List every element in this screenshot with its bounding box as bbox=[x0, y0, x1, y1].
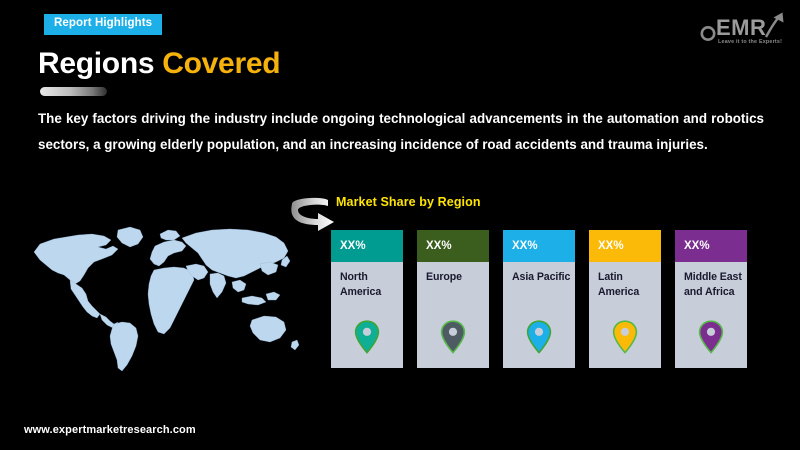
region-card-label: Europe bbox=[417, 262, 489, 285]
summary-paragraph: The key factors driving the industry inc… bbox=[38, 106, 764, 157]
region-card-asia-pacific[interactable]: XX% Asia Pacific bbox=[503, 230, 575, 368]
page-title-part2: Covered bbox=[162, 47, 280, 80]
region-card-label: Asia Pacific bbox=[503, 262, 575, 285]
region-card-pin-icon bbox=[331, 320, 403, 368]
logo-arrow-icon bbox=[766, 13, 784, 38]
region-card-pin-icon bbox=[589, 320, 661, 368]
region-card-label: Latin America bbox=[589, 262, 661, 300]
logo-circle-icon bbox=[702, 27, 714, 39]
region-cards: XX% North America XX% Europe XX% Asia Pa… bbox=[331, 230, 786, 368]
page-title: Regions Covered bbox=[38, 48, 280, 80]
page-title-part1: Regions bbox=[38, 47, 162, 80]
region-card-pin-icon bbox=[675, 320, 747, 368]
region-card-percent: XX% bbox=[417, 230, 489, 262]
region-card-label: Middle East and Africa bbox=[675, 262, 747, 300]
market-share-callout: Market Share by Region bbox=[336, 195, 481, 209]
map-landmasses bbox=[34, 227, 299, 371]
badge-label: Report Highlights bbox=[54, 17, 152, 29]
report-highlights-badge: Report Highlights bbox=[44, 14, 162, 35]
region-card-percent: XX% bbox=[331, 230, 403, 262]
region-card-europe[interactable]: XX% Europe bbox=[417, 230, 489, 368]
region-card-pin-icon bbox=[503, 320, 575, 368]
svg-text:Leave it to the Experts!: Leave it to the Experts! bbox=[718, 39, 782, 45]
region-card-north-america[interactable]: XX% North America bbox=[331, 230, 403, 368]
region-card-pin-icon bbox=[417, 320, 489, 368]
footer-url[interactable]: www.expertmarketresearch.com bbox=[24, 424, 196, 436]
world-map bbox=[14, 218, 314, 378]
region-card-percent: XX% bbox=[589, 230, 661, 262]
world-map-svg bbox=[14, 218, 314, 378]
slide-canvas: Report Highlights EMR Leave it to the Ex… bbox=[0, 0, 800, 450]
region-card-percent: XX% bbox=[675, 230, 747, 262]
region-card-percent: XX% bbox=[503, 230, 575, 262]
emr-logo: EMR Leave it to the Experts! bbox=[696, 6, 788, 48]
region-card-label: North America bbox=[331, 262, 403, 300]
svg-text:EMR: EMR bbox=[716, 15, 766, 40]
title-underline-bar bbox=[40, 87, 107, 96]
region-card-middle-east-africa[interactable]: XX% Middle East and Africa bbox=[675, 230, 747, 368]
region-card-latin-america[interactable]: XX% Latin America bbox=[589, 230, 661, 368]
